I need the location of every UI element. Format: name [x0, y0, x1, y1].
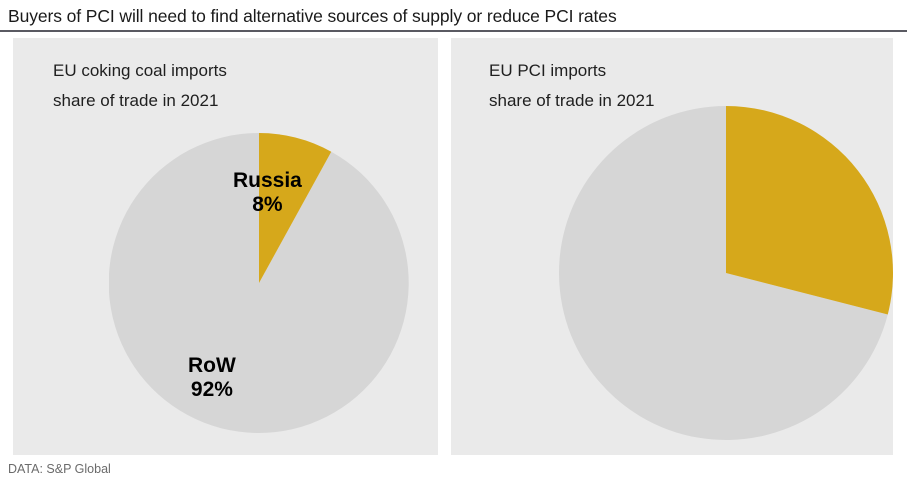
pie-chart-pci	[559, 106, 893, 440]
pie-label-row-name: RoW	[188, 354, 236, 378]
charts-container: EU coking coal imports share of trade in…	[0, 38, 907, 456]
pie-label-russia-coking-coal: Russia 8%	[233, 169, 302, 216]
panel-heading-line2: share of trade in 2021	[53, 86, 227, 116]
chart-panel-coking-coal: EU coking coal imports share of trade in…	[13, 38, 438, 455]
pie-label-row-coking-coal: RoW 92%	[188, 354, 236, 401]
panel-heading-line1: EU PCI imports	[489, 56, 654, 86]
chart-panel-pci: EU PCI imports share of trade in 2021 Ru…	[451, 38, 893, 455]
panel-heading-coking-coal: EU coking coal imports share of trade in…	[53, 56, 227, 116]
pie-label-russia-name: Russia	[233, 169, 302, 193]
pie-label-row-value: 92%	[188, 378, 236, 402]
source-attribution: DATA: S&P Global	[8, 462, 111, 476]
pie-label-russia-value: 8%	[233, 193, 302, 217]
page-title: Buyers of PCI will need to find alternat…	[8, 6, 617, 27]
title-divider	[0, 30, 907, 32]
panel-heading-line1: EU coking coal imports	[53, 56, 227, 86]
